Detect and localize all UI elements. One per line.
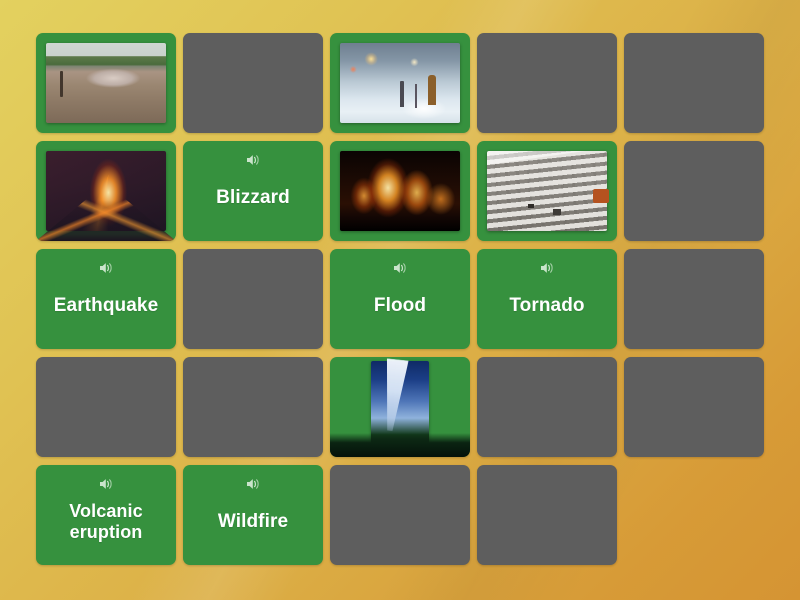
- word-card[interactable]: Blizzard: [183, 141, 323, 241]
- hidden-tile[interactable]: [477, 33, 617, 133]
- card-photo: [46, 43, 166, 123]
- speaker-icon[interactable]: [245, 477, 261, 491]
- card-photo: [371, 361, 429, 453]
- speaker-icon[interactable]: [539, 261, 555, 275]
- hidden-tile[interactable]: [624, 357, 764, 457]
- picture-card[interactable]: [330, 33, 470, 133]
- hidden-tile[interactable]: [624, 141, 764, 241]
- card-label: Earthquake: [48, 295, 164, 317]
- picture-card[interactable]: [36, 141, 176, 241]
- matching-pairs-board: BlizzardEarthquakeFloodTornadoVolcanic e…: [36, 33, 764, 568]
- card-label: Volcanic eruption: [36, 501, 176, 543]
- word-card[interactable]: Flood: [330, 249, 470, 349]
- word-card[interactable]: Earthquake: [36, 249, 176, 349]
- picture-card[interactable]: [477, 141, 617, 241]
- picture-card[interactable]: [330, 357, 470, 457]
- picture-card[interactable]: [330, 141, 470, 241]
- card-label: Wildfire: [212, 511, 294, 533]
- empty-slot: [624, 465, 764, 565]
- card-photo: [46, 151, 166, 231]
- hidden-tile[interactable]: [183, 249, 323, 349]
- hidden-tile[interactable]: [624, 33, 764, 133]
- word-card[interactable]: Volcanic eruption: [36, 465, 176, 565]
- card-photo: [340, 43, 460, 123]
- word-card[interactable]: Tornado: [477, 249, 617, 349]
- card-label: Blizzard: [210, 187, 296, 209]
- hidden-tile[interactable]: [477, 465, 617, 565]
- card-label: Tornado: [503, 295, 590, 317]
- hidden-tile[interactable]: [624, 249, 764, 349]
- hidden-tile[interactable]: [183, 357, 323, 457]
- speaker-icon[interactable]: [98, 261, 114, 275]
- hidden-tile[interactable]: [183, 33, 323, 133]
- speaker-icon[interactable]: [392, 261, 408, 275]
- hidden-tile[interactable]: [36, 357, 176, 457]
- picture-card[interactable]: [36, 33, 176, 133]
- hidden-tile[interactable]: [477, 357, 617, 457]
- hidden-tile[interactable]: [330, 465, 470, 565]
- speaker-icon[interactable]: [98, 477, 114, 491]
- card-photo: [340, 151, 460, 231]
- speaker-icon[interactable]: [245, 153, 261, 167]
- card-label: Flood: [368, 295, 432, 317]
- card-photo: [487, 151, 607, 231]
- word-card[interactable]: Wildfire: [183, 465, 323, 565]
